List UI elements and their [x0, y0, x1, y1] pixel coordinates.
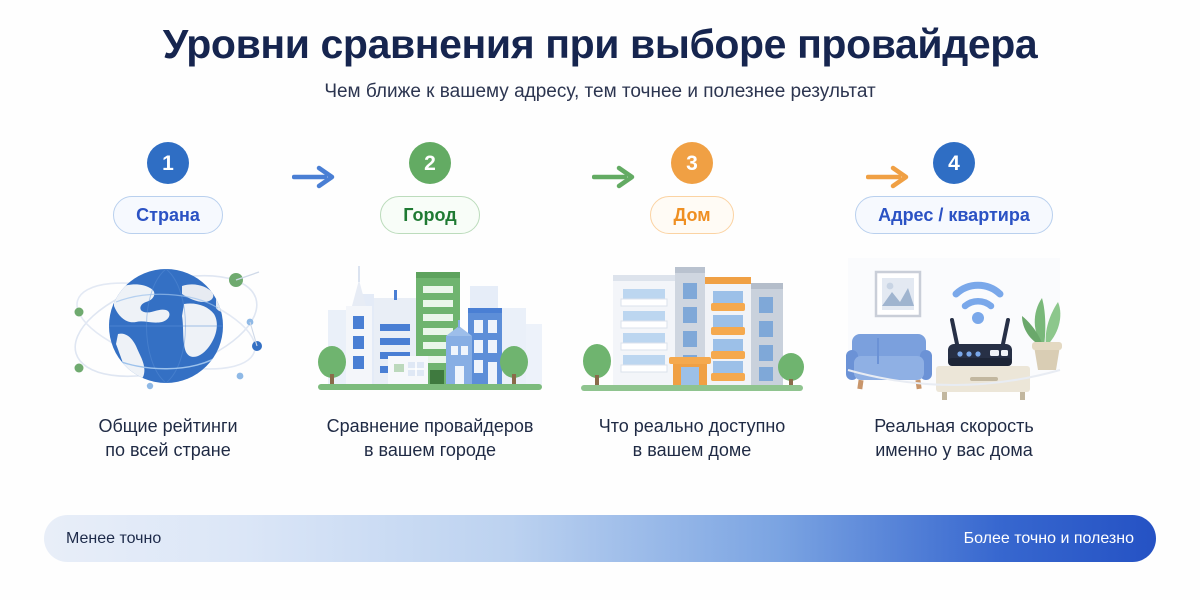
step-label-city[interactable]: Город: [380, 196, 479, 234]
step-badge-2: 2: [409, 142, 451, 184]
page-title: Уровни сравнения при выборе провайдера: [0, 22, 1200, 67]
city-skyline-icon: [310, 250, 550, 400]
step-caption-city: Сравнение провайдеров в вашем городе: [327, 414, 534, 463]
infographic-page: Уровни сравнения при выборе провайдера Ч…: [0, 0, 1200, 600]
arrow-step2-to-step3: [592, 162, 638, 192]
step-caption-country: Общие рейтинги по всей стране: [98, 414, 237, 463]
living-room-router-icon: [832, 250, 1076, 400]
illustration-city: [305, 250, 555, 400]
step-badge-4: 4: [933, 142, 975, 184]
step-label-building[interactable]: Дом: [650, 196, 733, 234]
step-country[interactable]: 1 Страна: [34, 142, 302, 463]
step-caption-address: Реальная скорость именно у вас дома: [874, 414, 1034, 463]
step-badge-3: 3: [671, 142, 713, 184]
step-badge-1: 1: [147, 142, 189, 184]
illustration-building: [567, 250, 817, 400]
scale-left-label: Менее точно: [66, 530, 161, 548]
scale-right-label: Более точно и полезно: [964, 530, 1134, 548]
page-subtitle: Чем ближе к вашему адресу, тем точнее и …: [0, 81, 1200, 103]
arrow-step3-to-step4: [866, 162, 912, 192]
illustration-globe: [43, 250, 293, 400]
apartment-building-icon: [577, 249, 807, 401]
step-address[interactable]: 4 Адрес / квартира: [820, 142, 1088, 463]
step-label-address[interactable]: Адрес / квартира: [855, 196, 1053, 234]
globe-icon: [54, 250, 282, 400]
arrow-step1-to-step2: [292, 162, 338, 192]
header: Уровни сравнения при выборе провайдера Ч…: [0, 0, 1200, 103]
step-label-country[interactable]: Страна: [113, 196, 223, 234]
step-caption-building: Что реально доступно в вашем доме: [599, 414, 786, 463]
precision-scale-bar: Менее точно Более точно и полезно: [44, 515, 1156, 562]
illustration-room: [829, 250, 1079, 400]
